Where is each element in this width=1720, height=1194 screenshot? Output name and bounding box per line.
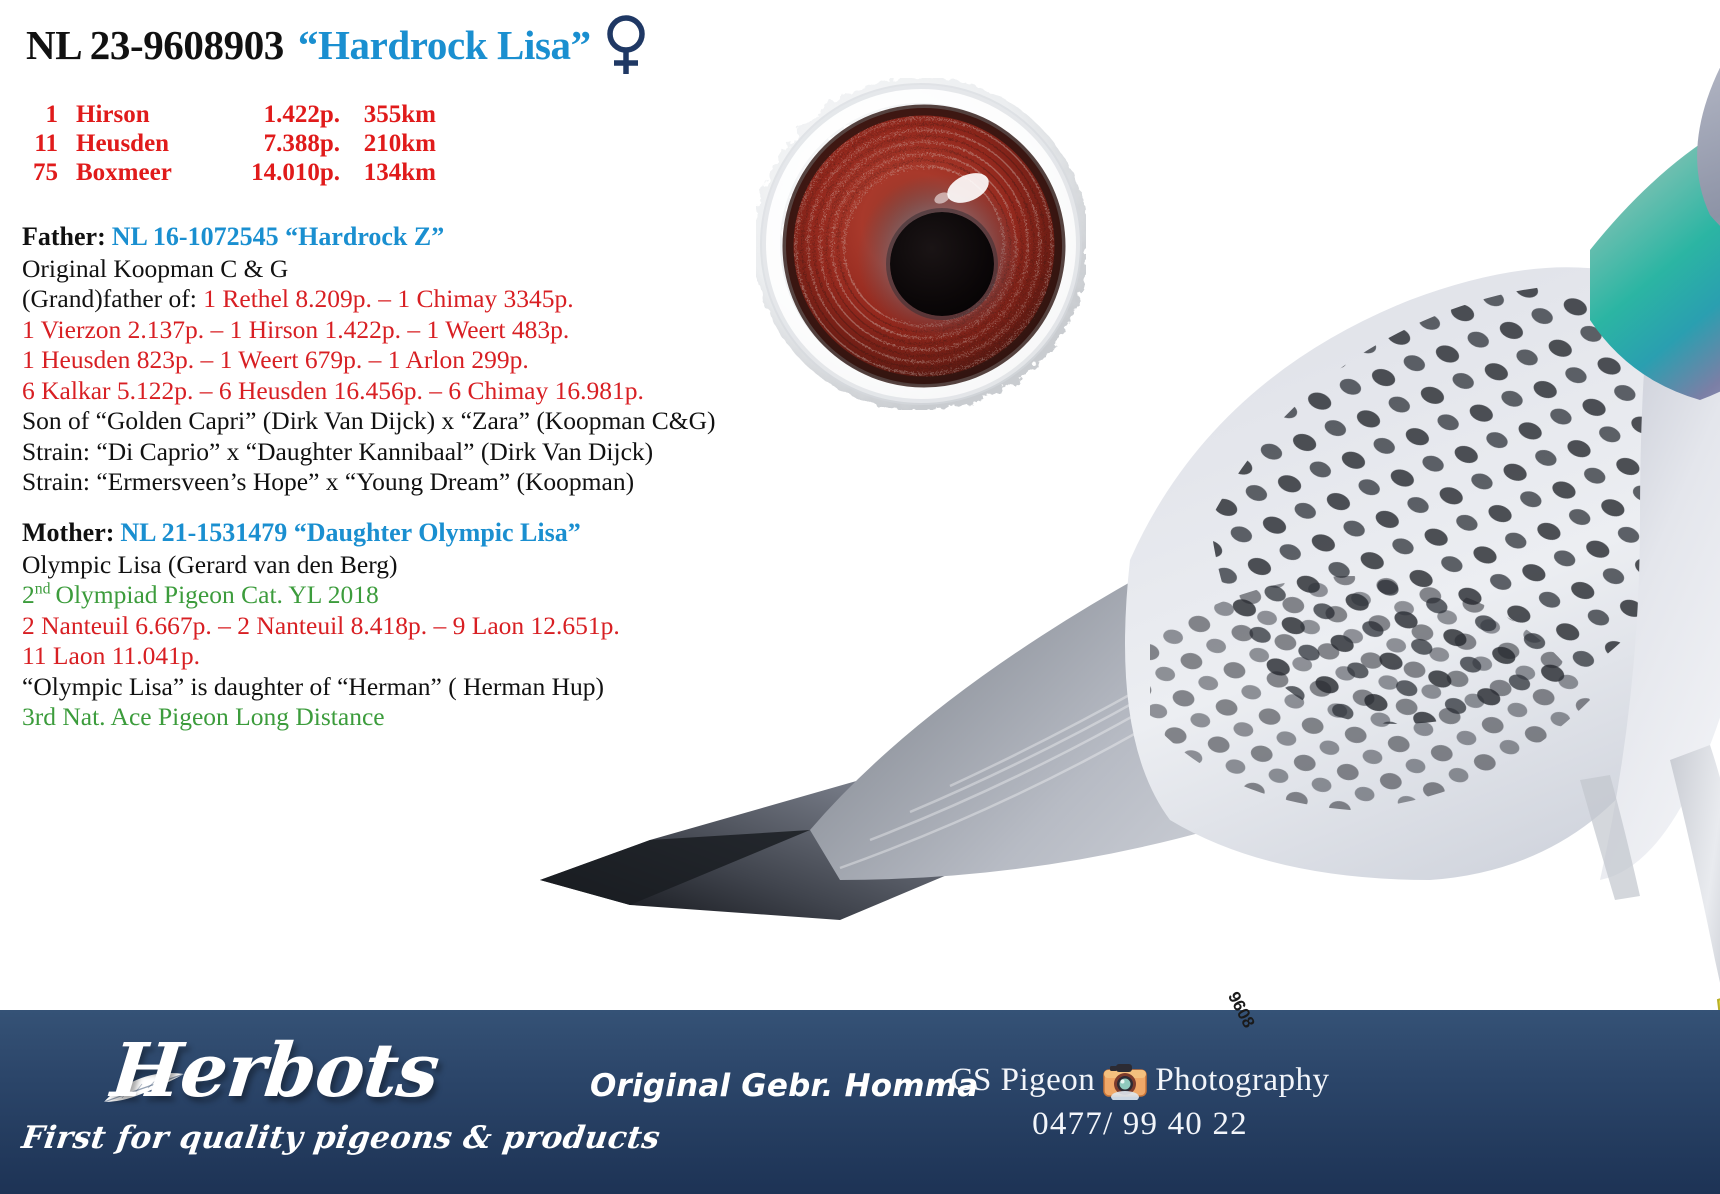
- female-symbol-icon: [603, 14, 649, 76]
- result-race: Hirson: [76, 100, 216, 129]
- result-position: 1: [28, 100, 76, 129]
- mother-ace-pigeon: 3rd Nat. Ace Pigeon Long Distance: [22, 702, 620, 733]
- father-heading: Father:NL 16-1072545 “Hardrock Z”: [22, 222, 716, 253]
- result-race: Heusden: [76, 129, 216, 158]
- ring-number: NL 23-9608903: [26, 21, 284, 69]
- father-results-line-3: 1 Heusden 823p. – 1 Weert 679p. – 1 Arlo…: [22, 345, 716, 376]
- mother-olympiad: 2ndOlympiad Pigeon Cat. YL 2018: [22, 580, 620, 611]
- photo-credit-suffix: Photography: [1155, 1062, 1329, 1099]
- bird-name: “Hardrock Lisa”: [298, 21, 591, 69]
- mother-section: Mother:NL 21-1531479 “Daughter Olympic L…: [22, 518, 620, 733]
- photo-credit-prefix: CS Pigeon: [951, 1062, 1096, 1099]
- mother-heading: Mother:NL 21-1531479 “Daughter Olympic L…: [22, 518, 620, 549]
- herbots-tagline: First for quality pigeons & products: [19, 1120, 662, 1156]
- mother-results-line-1: 2 Nanteuil 6.667p. – 2 Nanteuil 8.418p. …: [22, 611, 620, 642]
- mother-ring-and-name: NL 21-1531479 “Daughter Olympic Lisa”: [120, 518, 580, 547]
- father-strain-1: Strain: “Di Caprio” x “Daughter Kannibaa…: [22, 437, 716, 468]
- photo-credit-line: CS Pigeon Photography: [930, 1060, 1350, 1100]
- result-distance: 134km: [340, 158, 436, 187]
- mother-label: Mother:: [22, 518, 114, 547]
- father-ring-and-name: NL 16-1072545 “Hardrock Z”: [112, 222, 444, 251]
- card-header: NL 23-9608903 “Hardrock Lisa”: [26, 14, 649, 76]
- father-grandfather-results: (Grand)father of: 1 Rethel 8.209p. – 1 C…: [22, 284, 716, 315]
- result-position: 75: [28, 158, 76, 187]
- result-birds: 1.422p.: [216, 100, 340, 129]
- result-birds: 14.010p.: [216, 158, 340, 187]
- result-distance: 210km: [340, 129, 436, 158]
- herbots-logo: Herbots First for quality pigeons & prod…: [8, 1024, 508, 1184]
- mother-results-line-2: 11 Laon 11.041p.: [22, 641, 620, 672]
- grandfather-results: 1 Rethel 8.209p. – 1 Chimay 3345p.: [203, 284, 573, 313]
- father-son-of: Son of “Golden Capri” (Dirk Van Dijck) x…: [22, 406, 716, 437]
- father-strain-2: Strain: “Ermersveen’s Hope” x “Young Dre…: [22, 467, 716, 498]
- photographer-phone: 0477/ 99 40 22: [930, 1106, 1350, 1143]
- race-results-table: 1 Hirson 1.422p. 355km 11 Heusden 7.388p…: [28, 100, 436, 187]
- olympiad-text: Olympiad Pigeon Cat. YL 2018: [56, 580, 379, 609]
- photo-credit: CS Pigeon Photography: [930, 1060, 1350, 1143]
- pigeon-full-body-photo: [510, 0, 1720, 1110]
- mother-daughter-of: “Olympic Lisa” is daughter of “Herman” (…: [22, 672, 620, 703]
- father-results-line-4: 6 Kalkar 5.122p. – 6 Heusden 16.456p. – …: [22, 376, 716, 407]
- table-row: 1 Hirson 1.422p. 355km: [28, 100, 436, 129]
- result-birds: 7.388p.: [216, 129, 340, 158]
- father-section: Father:NL 16-1072545 “Hardrock Z” Origin…: [22, 222, 716, 498]
- herbots-wordmark: Herbots: [107, 1028, 442, 1114]
- father-results-line-2: 1 Vierzon 2.137p. – 1 Hirson 1.422p. – 1…: [22, 315, 716, 346]
- pigeon-eye-closeup-photo: [756, 78, 1086, 410]
- olympiad-suffix: nd: [35, 581, 51, 598]
- mother-origin: Olympic Lisa (Gerard van den Berg): [22, 550, 620, 581]
- olympiad-rank: 2: [22, 580, 35, 609]
- breeder-credit: Original Gebr. Homma: [590, 1068, 978, 1104]
- result-position: 11: [28, 129, 76, 158]
- father-label: Father:: [22, 222, 106, 251]
- table-row: 75 Boxmeer 14.010p. 134km: [28, 158, 436, 187]
- grandfather-prefix: (Grand)father of:: [22, 284, 203, 313]
- footer-banner: Herbots First for quality pigeons & prod…: [0, 1010, 1720, 1194]
- result-distance: 355km: [340, 100, 436, 129]
- pedigree-card: NL 23-9608903 “Hardrock Lisa” 1 Hirson 1…: [0, 0, 1720, 1194]
- result-race: Boxmeer: [76, 158, 216, 187]
- camera-icon: [1101, 1060, 1149, 1100]
- table-row: 11 Heusden 7.388p. 210km: [28, 129, 436, 158]
- father-origin: Original Koopman C & G: [22, 254, 716, 285]
